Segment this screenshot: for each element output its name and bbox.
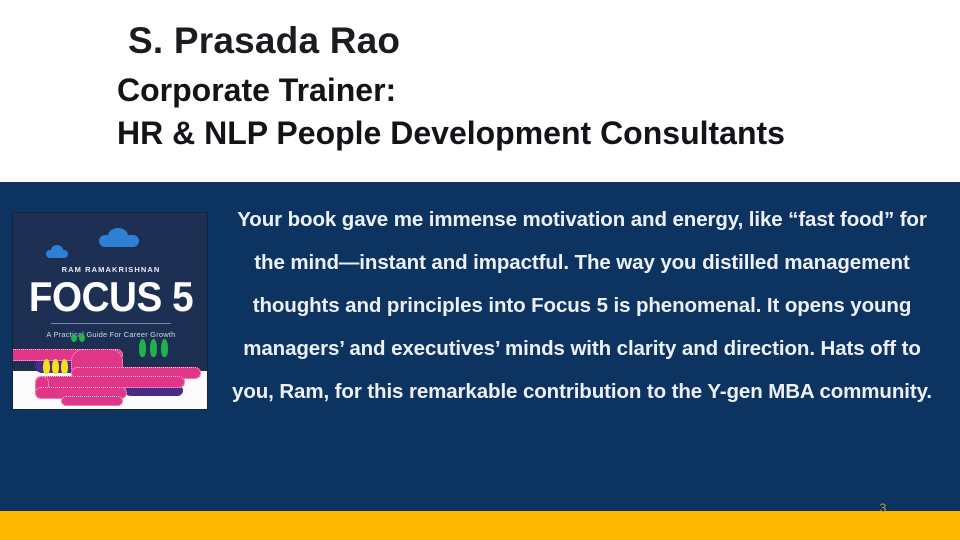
tree-icon-green-small-2 — [79, 334, 85, 342]
cloud-icon-small — [46, 250, 68, 258]
tree-icon-yellow-3 — [61, 359, 68, 374]
tree-icon-green-3 — [161, 339, 168, 357]
presentation-slide: S. Prasada Rao Corporate Trainer: HR & N… — [0, 0, 960, 540]
book-title: FOCUS 5 — [21, 275, 201, 319]
tree-icon-green-2 — [150, 339, 157, 357]
testimonial-quote: Your book gave me immense motivation and… — [228, 198, 936, 413]
book-divider-rule — [51, 323, 171, 324]
cloud-icon-large — [99, 235, 139, 247]
slide-number: 3 — [872, 501, 894, 515]
slide-header: S. Prasada Rao Corporate Trainer: HR & N… — [0, 0, 960, 182]
tree-icon-yellow-2 — [52, 359, 59, 374]
book-subtitle: A Practical Guide For Career Growth — [13, 330, 208, 339]
book-cover-image: RAM RAMAKRISHNAN FOCUS 5 A Practical Gui… — [12, 212, 208, 410]
tree-icon-yellow-1 — [43, 359, 50, 374]
speaker-role-line-2: HR & NLP People Development Consultants — [117, 117, 785, 151]
book-path-segment-7 — [61, 396, 123, 406]
speaker-role-line-1: Corporate Trainer: — [117, 74, 396, 108]
footer-accent-band — [0, 511, 960, 540]
speaker-name: S. Prasada Rao — [128, 22, 400, 61]
tree-icon-green-small-1 — [71, 334, 77, 342]
tree-icon-green-1 — [139, 339, 146, 357]
